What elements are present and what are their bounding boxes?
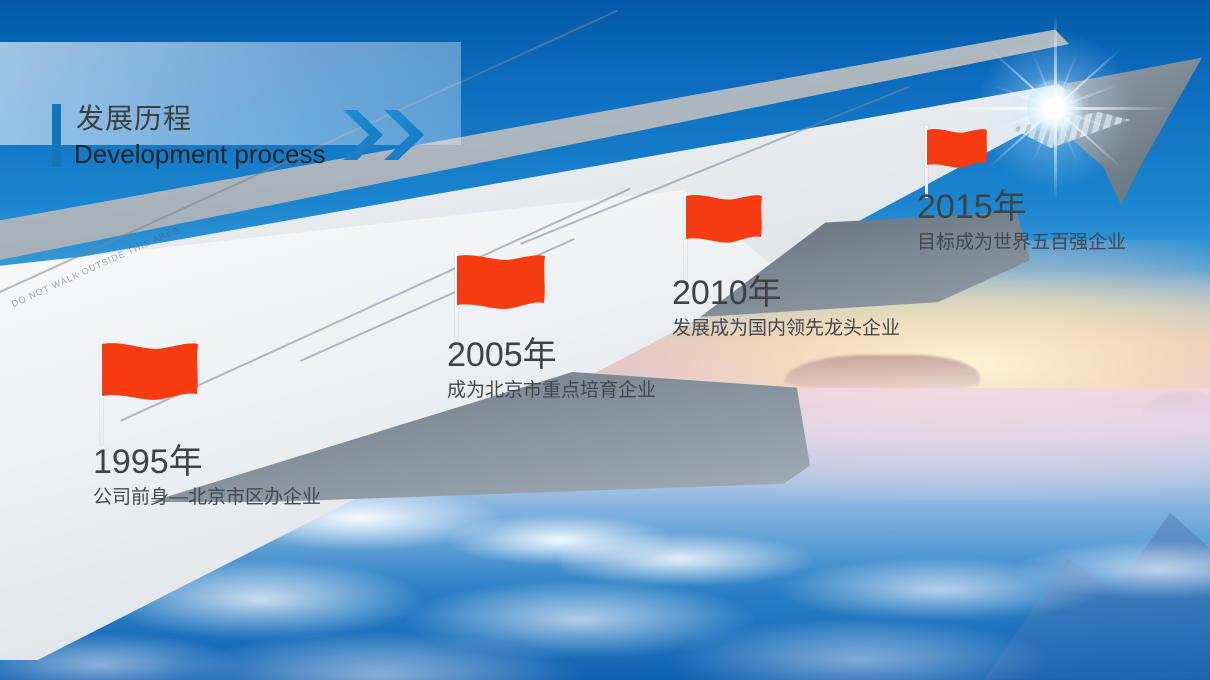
page-title-en: Development process (74, 141, 325, 167)
milestone-2005: 2005年 成为北京市重点培育企业 (447, 338, 656, 400)
milestone-2010: 2010年 发展成为国内领先龙头企业 (672, 276, 900, 338)
chevron-right-icon (341, 108, 387, 162)
milestone-year: 2010年 (672, 276, 900, 310)
flag-cloth (457, 254, 547, 328)
milestone-description: 公司前身—北京市区办企业 (93, 488, 321, 507)
milestone-description: 目标成为世界五百强企业 (917, 233, 1126, 252)
milestone-1995: 1995年 公司前身—北京市区办企业 (93, 445, 321, 507)
milestone-description: 发展成为国内领先龙头企业 (672, 319, 900, 338)
chevron-right-icon (382, 108, 428, 162)
milestone-2015: 2015年 目标成为世界五百强企业 (917, 190, 1126, 252)
milestone-description: 成为北京市重点培育企业 (447, 381, 656, 400)
presentation-slide: DO NOT WALK OUTSIDE THIS AREA 发展历程 Devel… (0, 0, 1210, 680)
title-accent-bar (52, 104, 61, 167)
flare-core (1027, 80, 1083, 136)
milestone-year: 1995年 (93, 445, 321, 479)
milestone-year: 2005年 (447, 338, 656, 372)
page-title-cn: 发展历程 (76, 105, 192, 133)
flag-cloth (927, 128, 989, 180)
flag-cloth (102, 342, 200, 420)
title-banner: 发展历程 Development process (0, 42, 461, 145)
milestone-year: 2015年 (917, 190, 1126, 224)
flag-cloth (686, 194, 764, 258)
